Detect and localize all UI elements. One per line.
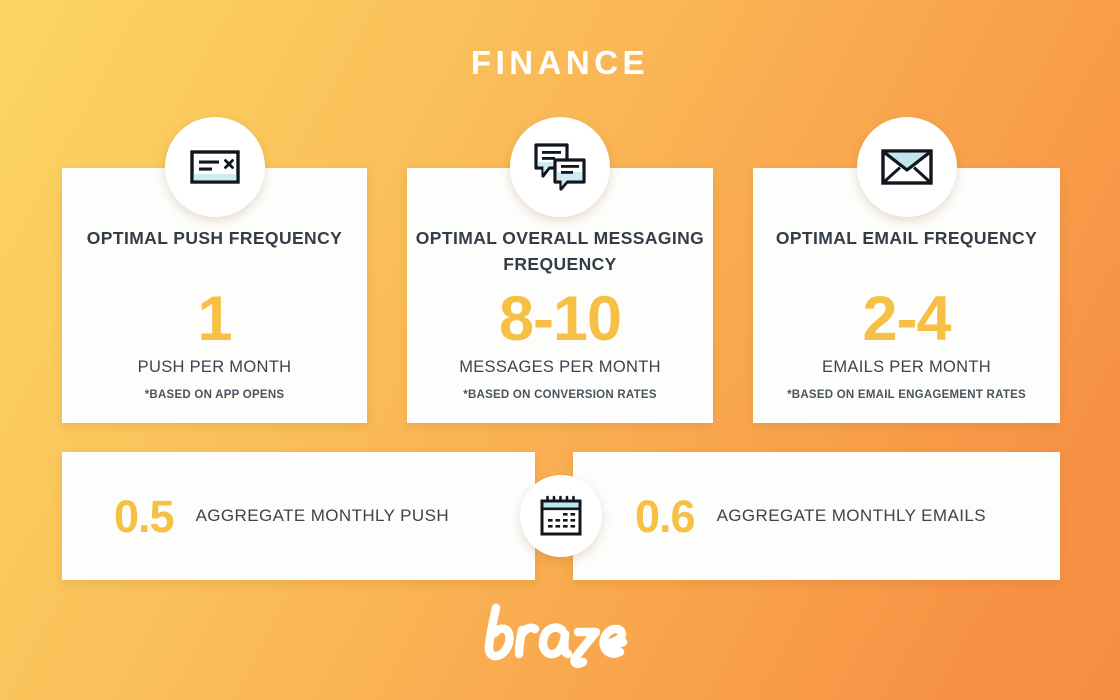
braze-logo <box>0 600 1120 673</box>
metric-card-email: OPTIMAL EMAIL FREQUENCY 2-4 EMAILS PER M… <box>753 168 1060 423</box>
aggregate-label: AGGREGATE MONTHLY PUSH <box>196 506 449 526</box>
aggregate-value: 0.5 <box>114 494 174 539</box>
envelope-icon <box>857 117 957 217</box>
card-unit: PUSH PER MONTH <box>62 358 367 377</box>
card-heading: OPTIMAL PUSH FREQUENCY <box>62 225 367 251</box>
metric-cards-row: OPTIMAL PUSH FREQUENCY 1 PUSH PER MONTH … <box>62 168 1060 423</box>
card-note: *BASED ON CONVERSION RATES <box>407 389 713 401</box>
chat-bubbles-icon <box>510 117 610 217</box>
card-unit: EMAILS PER MONTH <box>753 358 1060 377</box>
aggregate-label: AGGREGATE MONTHLY EMAILS <box>717 506 986 526</box>
card-note: *BASED ON APP OPENS <box>62 389 367 401</box>
page-title: FINANCE <box>0 44 1120 82</box>
card-unit: MESSAGES PER MONTH <box>407 358 713 377</box>
card-note: *BASED ON EMAIL ENGAGEMENT RATES <box>753 389 1060 401</box>
aggregate-row: 0.5 AGGREGATE MONTHLY PUSH 0.6 AGGREGATE… <box>62 452 1060 580</box>
card-value: 1 <box>62 285 367 353</box>
card-value: 2-4 <box>753 285 1060 353</box>
aggregate-bar-email: 0.6 AGGREGATE MONTHLY EMAILS <box>573 452 1060 580</box>
calendar-icon <box>520 475 602 557</box>
aggregate-bar-push: 0.5 AGGREGATE MONTHLY PUSH <box>62 452 535 580</box>
card-heading: OPTIMAL OVERALL MESSAGING FREQUENCY <box>407 225 713 277</box>
metric-card-messaging: OPTIMAL OVERALL MESSAGING FREQUENCY 8-10… <box>407 168 713 423</box>
aggregate-value: 0.6 <box>635 494 695 539</box>
metric-card-push: OPTIMAL PUSH FREQUENCY 1 PUSH PER MONTH … <box>62 168 367 423</box>
push-notification-icon <box>165 117 265 217</box>
card-heading: OPTIMAL EMAIL FREQUENCY <box>753 225 1060 251</box>
card-value: 8-10 <box>407 285 713 353</box>
